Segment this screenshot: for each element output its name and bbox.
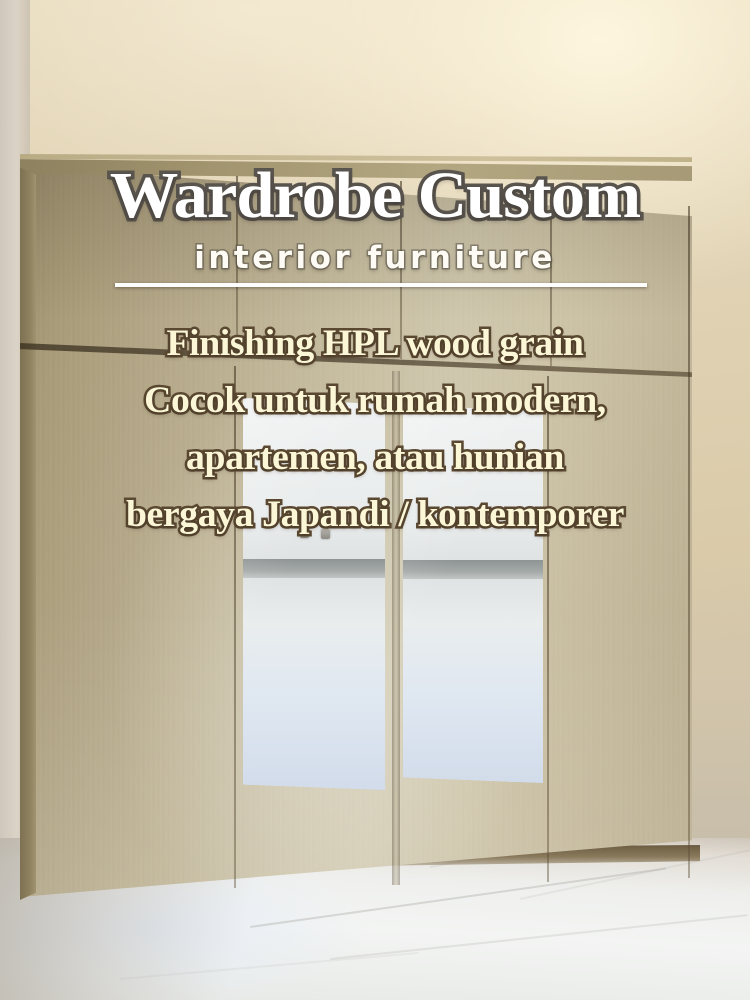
body-line: bergaya Japandi / kontemporer — [0, 486, 750, 543]
overlay-body-text: Finishing HPL wood grain Cocok untuk rum… — [0, 315, 750, 543]
body-line: Finishing HPL wood grain — [0, 315, 750, 372]
overlay-title: Wardrobe Custom — [0, 163, 750, 229]
body-line: Cocok untuk rumah modern, — [0, 372, 750, 429]
overlay-subtitle: interior furniture — [0, 240, 750, 276]
screenshot-canvas: Wardrobe Custom interior furniture Finis… — [0, 0, 750, 1000]
body-line: apartemen, atau hunian — [0, 429, 750, 486]
text-overlay: Wardrobe Custom interior furniture Finis… — [0, 0, 750, 1000]
overlay-divider-rule — [115, 283, 647, 287]
